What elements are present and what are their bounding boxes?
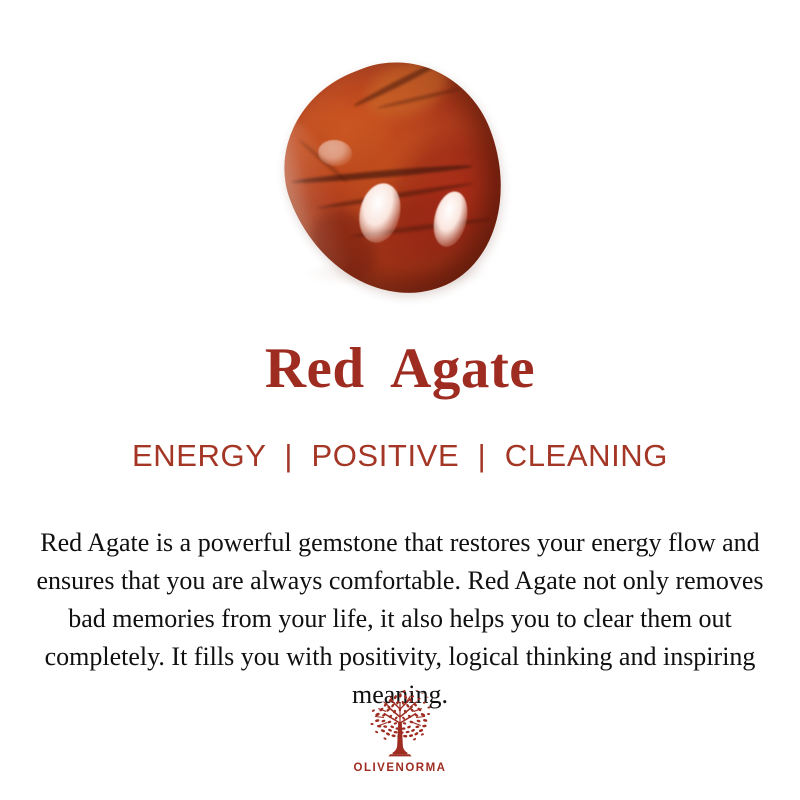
gemstone-image-area	[0, 52, 800, 314]
gemstone-surface	[255, 34, 536, 327]
brand-logo: OLIVENORMA	[0, 688, 800, 774]
brand-wordmark: OLIVENORMA	[354, 762, 447, 774]
product-attributes: ENERGY | POSITIVE | CLEANING	[0, 438, 800, 474]
product-description: Red Agate is a powerful gemstone that re…	[22, 524, 778, 714]
product-title: Red Agate	[0, 338, 800, 400]
product-info-card: Red Agate ENERGY | POSITIVE | CLEANING R…	[0, 0, 800, 800]
gemstone-photo	[282, 64, 518, 302]
tree-of-life-icon	[357, 688, 443, 760]
gemstone-shape	[255, 34, 536, 327]
